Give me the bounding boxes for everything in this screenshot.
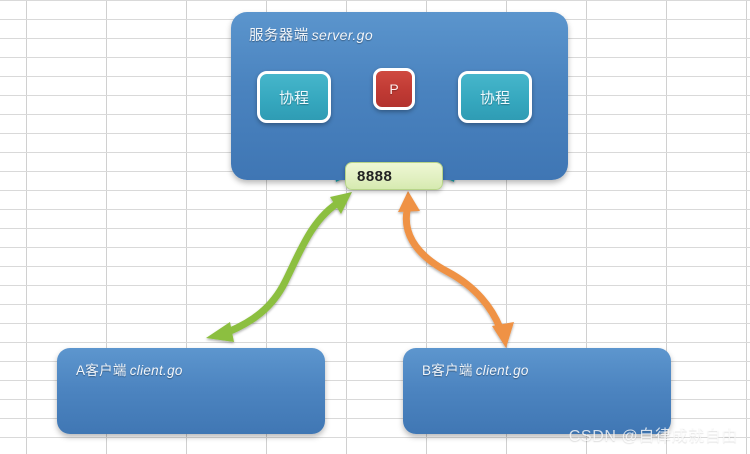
client-a-label: A客户端client.go bbox=[76, 359, 183, 379]
goroutine-box-right[interactable]: 协程 bbox=[458, 71, 532, 123]
client-a-label-cn: A客户端 bbox=[76, 363, 127, 378]
server-title: 服务器端server.go bbox=[249, 24, 373, 45]
port-to-client-a-connector bbox=[206, 192, 352, 342]
client-a-container[interactable]: A客户端client.go bbox=[57, 348, 325, 434]
diagram-canvas: 服务器端server.go 协程 协程 P 8888 A客户端client.go… bbox=[0, 0, 750, 454]
process-label: P bbox=[389, 81, 398, 97]
server-title-file: server.go bbox=[309, 27, 373, 43]
client-b-label-file: client.go bbox=[473, 363, 529, 378]
port-to-client-b-connector bbox=[398, 191, 514, 348]
client-b-label-cn: B客户端 bbox=[422, 363, 473, 378]
process-box[interactable]: P bbox=[373, 68, 415, 110]
client-a-label-file: client.go bbox=[127, 363, 183, 378]
goroutine-right-label: 协程 bbox=[480, 87, 510, 108]
goroutine-left-label: 协程 bbox=[279, 87, 309, 108]
server-title-cn: 服务器端 bbox=[249, 28, 309, 44]
goroutine-box-left[interactable]: 协程 bbox=[257, 71, 331, 123]
port-label: 8888 bbox=[346, 168, 392, 185]
port-box[interactable]: 8888 bbox=[345, 162, 443, 190]
client-b-label: B客户端client.go bbox=[422, 359, 529, 379]
csdn-watermark: CSDN @自律成就自由 bbox=[569, 422, 738, 446]
